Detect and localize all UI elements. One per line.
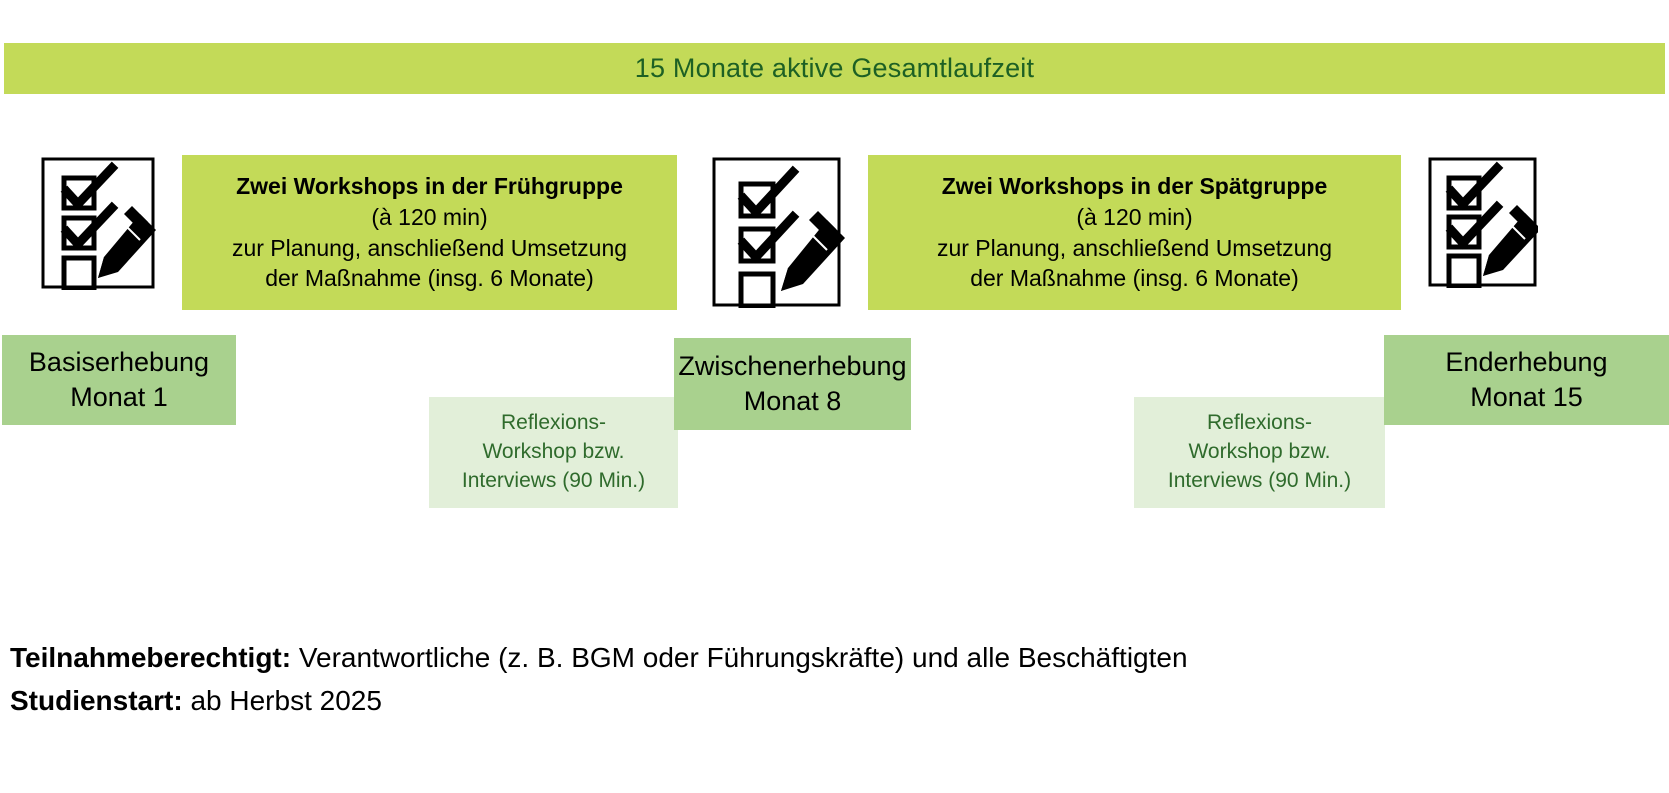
total-duration-banner-label: 15 Monate aktive Gesamtlaufzeit — [635, 53, 1034, 84]
workshop-box-late-group: Zwei Workshops in der Spätgruppe (à 120 … — [868, 155, 1401, 310]
survey-name: Zwischenerhebung — [678, 349, 906, 384]
total-duration-banner: 15 Monate aktive Gesamtlaufzeit — [4, 43, 1665, 94]
eligibility-label: Teilnahmeberechtigt: — [10, 642, 291, 673]
reflection-line-1: Reflexions- — [501, 409, 606, 438]
study-start-line: Studienstart: ab Herbst 2025 — [10, 680, 1650, 723]
reflection-line-2: Workshop bzw. — [1188, 438, 1330, 467]
survey-month: Monat 8 — [744, 384, 842, 419]
footer-notes: Teilnahmeberechtigt: Verantwortliche (z.… — [10, 637, 1650, 722]
survey-box-interim: Zwischenerhebung Monat 8 — [674, 338, 911, 430]
checklist-pencil-icon — [711, 156, 847, 308]
reflection-workshop-box: Reflexions- Workshop bzw. Interviews (90… — [429, 397, 678, 508]
timeline-diagram: 15 Monate aktive Gesamtlaufzeit Zwei Wor… — [0, 0, 1669, 793]
workshop-detail-line-2: der Maßnahme (insg. 6 Monate) — [265, 263, 594, 294]
survey-name: Enderhebung — [1445, 345, 1607, 380]
reflection-line-3: Interviews (90 Min.) — [462, 467, 645, 496]
workshop-duration: (à 120 min) — [371, 202, 487, 233]
checklist-pencil-icon — [40, 156, 156, 290]
survey-box-baseline: Basiserhebung Monat 1 — [2, 335, 236, 425]
reflection-line-3: Interviews (90 Min.) — [1168, 467, 1351, 496]
reflection-line-1: Reflexions- — [1207, 409, 1312, 438]
workshop-box-early-group: Zwei Workshops in der Frühgruppe (à 120 … — [182, 155, 677, 310]
workshop-detail-line-1: zur Planung, anschließend Umsetzung — [937, 233, 1332, 264]
eligibility-line: Teilnahmeberechtigt: Verantwortliche (z.… — [10, 637, 1650, 680]
reflection-workshop-box: Reflexions- Workshop bzw. Interviews (90… — [1134, 397, 1385, 508]
workshop-title: Zwei Workshops in der Spätgruppe — [942, 171, 1328, 202]
checklist-pencil-icon — [1427, 156, 1538, 288]
workshop-duration: (à 120 min) — [1076, 202, 1192, 233]
survey-name: Basiserhebung — [29, 345, 209, 380]
survey-month: Monat 15 — [1470, 380, 1583, 415]
study-start-text: ab Herbst 2025 — [183, 685, 382, 716]
eligibility-text: Verantwortliche (z. B. BGM oder Führungs… — [291, 642, 1187, 673]
reflection-line-2: Workshop bzw. — [482, 438, 624, 467]
workshop-title: Zwei Workshops in der Frühgruppe — [236, 171, 623, 202]
workshop-detail-line-1: zur Planung, anschließend Umsetzung — [232, 233, 627, 264]
survey-box-final: Enderhebung Monat 15 — [1384, 335, 1669, 425]
survey-month: Monat 1 — [70, 380, 168, 415]
study-start-label: Studienstart: — [10, 685, 183, 716]
workshop-detail-line-2: der Maßnahme (insg. 6 Monate) — [970, 263, 1299, 294]
